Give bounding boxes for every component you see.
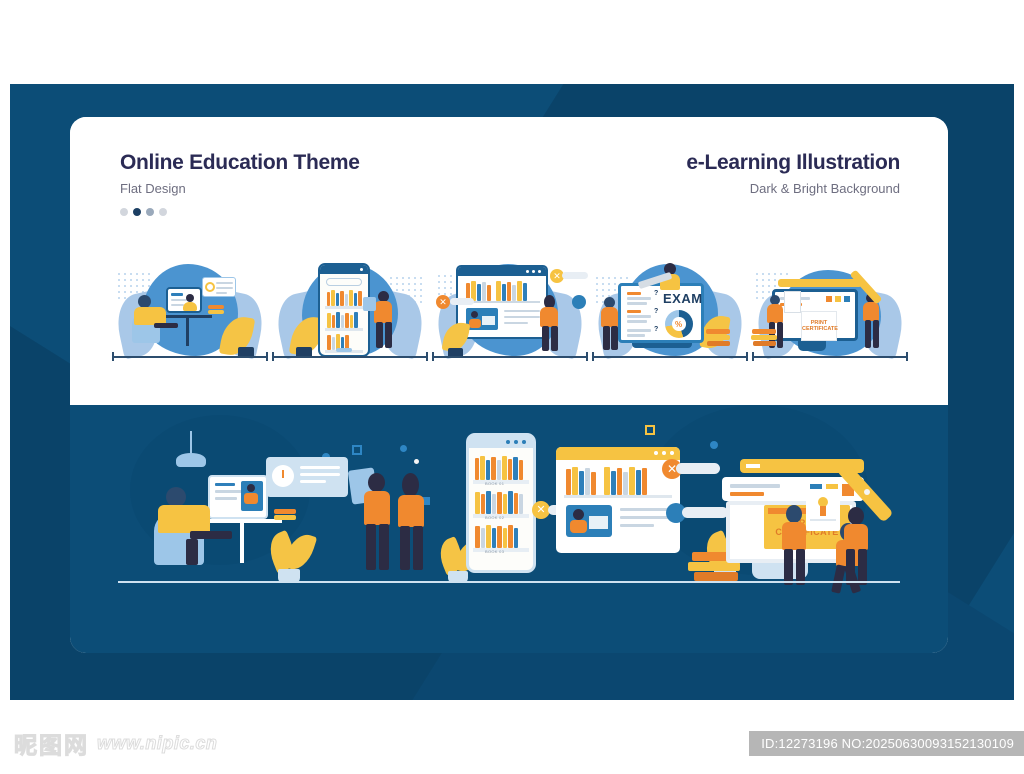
certificate-label: PRINT CERTIFICATE bbox=[802, 321, 836, 333]
laptop-base bbox=[632, 343, 692, 348]
person-right-leg-1 bbox=[865, 320, 871, 348]
award-person-a-leg-1 bbox=[784, 549, 793, 585]
shelf-label-2: BOOK 02 bbox=[485, 515, 504, 520]
book-stack-3 bbox=[707, 341, 730, 346]
thumbnail-online-learning-desk[interactable] bbox=[110, 249, 270, 369]
desk-leg bbox=[186, 318, 189, 346]
lamp-cord bbox=[190, 431, 192, 453]
award-sheet bbox=[806, 489, 840, 531]
watermark-url: www.nipic.cn bbox=[97, 733, 217, 754]
book-stack bbox=[208, 305, 224, 309]
dot-3[interactable] bbox=[146, 208, 154, 216]
printer-top-bar bbox=[778, 279, 862, 287]
pill-decor-left bbox=[450, 298, 474, 305]
page-subtitle: Flat Design bbox=[120, 181, 360, 197]
person-leg-1 bbox=[376, 322, 383, 348]
award-person-b-head bbox=[848, 507, 864, 525]
laptop-screen: ? ? ? EXAM % bbox=[618, 283, 704, 343]
book-stack-2 bbox=[274, 515, 296, 520]
watermark-id: ID:12273196 NO:20250630093152130109 bbox=[749, 731, 1024, 756]
person-a-head bbox=[368, 473, 385, 492]
person-left-body bbox=[767, 304, 783, 323]
award-person-a-body bbox=[782, 522, 806, 550]
person-body bbox=[540, 307, 558, 327]
award-person-b-leg-2 bbox=[858, 549, 867, 585]
thumbnail-online-exam[interactable]: ? ? ? EXAM % bbox=[590, 249, 750, 369]
person-legs bbox=[154, 323, 178, 328]
award-person-a-leg-2 bbox=[796, 549, 805, 585]
smartphone-frame: BOOK 01 BOOK 02 bbox=[466, 433, 536, 573]
book-stack-1 bbox=[706, 329, 730, 334]
ground-line bbox=[432, 356, 588, 358]
square-decor-3 bbox=[645, 425, 655, 435]
card-top-section: Online Education Theme Flat Design e-Lea… bbox=[70, 117, 948, 405]
headings-row: Online Education Theme Flat Design e-Lea… bbox=[120, 151, 900, 216]
printer-stand bbox=[798, 341, 826, 351]
award-sheet bbox=[784, 291, 801, 313]
poster-card: Online Education Theme Flat Design e-Lea… bbox=[70, 117, 948, 653]
poster-canvas: Online Education Theme Flat Design e-Lea… bbox=[0, 0, 1024, 774]
watermark-brand: 昵图网 www.nipic.cn bbox=[14, 726, 217, 760]
raised-hand bbox=[864, 489, 870, 495]
right-heading-group: e-Learning Illustration Dark & Bright Ba… bbox=[686, 151, 900, 197]
slide-indicator-dots[interactable] bbox=[120, 208, 360, 216]
award-person-a-head bbox=[786, 505, 802, 523]
person-b-head bbox=[402, 473, 419, 497]
chat-bubble bbox=[202, 277, 236, 297]
ground-line bbox=[272, 356, 428, 358]
raised-hand bbox=[414, 459, 419, 464]
person-leg-2 bbox=[611, 326, 618, 350]
book-stack-1 bbox=[752, 329, 776, 334]
monitor-screen bbox=[166, 287, 202, 313]
person-leg-2 bbox=[385, 322, 392, 348]
person-right-body bbox=[863, 302, 879, 321]
person-left-leg-2 bbox=[777, 322, 783, 348]
person-right-leg-2 bbox=[873, 320, 879, 348]
secondary-subtitle: Dark & Bright Background bbox=[686, 181, 900, 197]
monitor-screen bbox=[208, 475, 268, 519]
student-body bbox=[158, 505, 210, 533]
person-leg-2 bbox=[551, 326, 558, 351]
person-a-body bbox=[364, 491, 390, 525]
dot-4[interactable] bbox=[159, 208, 167, 216]
desk-leg bbox=[240, 523, 244, 563]
award-person-b-body bbox=[844, 524, 868, 550]
person-body bbox=[601, 307, 618, 327]
left-heading-group: Online Education Theme Flat Design bbox=[120, 151, 360, 216]
search-field[interactable] bbox=[326, 278, 362, 286]
person-body bbox=[374, 301, 392, 323]
book-stack-2 bbox=[208, 310, 224, 314]
person-a-leg-1 bbox=[366, 524, 376, 570]
hero-scene-two-people[interactable] bbox=[334, 453, 434, 581]
shelf-label-3: BOOK 03 bbox=[485, 549, 504, 554]
book-stack-1 bbox=[274, 509, 296, 514]
hero-plant-1 bbox=[268, 527, 312, 583]
person-b-leg-1 bbox=[400, 526, 410, 570]
circle-decor bbox=[572, 295, 586, 309]
video-lesson-thumbnail[interactable] bbox=[466, 308, 498, 330]
exam-label: EXAM bbox=[663, 291, 703, 306]
page-title: Online Education Theme bbox=[120, 151, 360, 175]
thumbnail-print-certificate[interactable]: PRINT CERTIFICATE bbox=[750, 249, 910, 369]
video-lesson-thumbnail[interactable] bbox=[566, 505, 612, 537]
thumbnail-online-course-browser[interactable]: ✕ ✕ bbox=[430, 249, 590, 369]
ground-line bbox=[592, 356, 748, 358]
book-stack-2 bbox=[751, 335, 777, 340]
close-icon-left[interactable]: ✕ bbox=[436, 295, 450, 309]
person-b-body bbox=[398, 495, 424, 527]
person-leg-1 bbox=[542, 326, 549, 351]
smartphone-frame bbox=[318, 263, 370, 357]
thumbnail-mobile-library[interactable] bbox=[270, 249, 430, 369]
person-a-leg-2 bbox=[379, 524, 389, 570]
book-stack-2 bbox=[704, 335, 730, 340]
book-stack-3 bbox=[753, 341, 776, 346]
thumbnail-strip: ✕ ✕ bbox=[110, 249, 910, 369]
student-legs bbox=[190, 531, 232, 539]
shelf-label-1: BOOK 01 bbox=[485, 481, 504, 486]
desk-top bbox=[158, 315, 212, 318]
ground-line bbox=[752, 356, 908, 358]
lamp-shade bbox=[176, 453, 206, 467]
dot-1[interactable] bbox=[120, 208, 128, 216]
pill-decor-right bbox=[562, 272, 588, 279]
dark-hero-banner: BOOK 01 BOOK 02 bbox=[70, 405, 948, 653]
percent-symbol: % bbox=[675, 320, 682, 329]
held-book bbox=[363, 297, 376, 311]
student-head bbox=[166, 487, 186, 507]
ground-line bbox=[112, 356, 268, 358]
hero-scene-award-people[interactable] bbox=[782, 487, 892, 587]
certificate-sheet: PRINT CERTIFICATE bbox=[801, 311, 837, 341]
person-b-leg-2 bbox=[413, 526, 423, 570]
hero-ground-line bbox=[118, 581, 900, 583]
award-person-b-leg-1 bbox=[846, 549, 855, 585]
secondary-title: e-Learning Illustration bbox=[686, 151, 900, 175]
hero-scene-mobile-library[interactable]: BOOK 01 BOOK 02 bbox=[466, 433, 536, 573]
dot-2-active[interactable] bbox=[133, 208, 141, 216]
watermark-brand-cn: 昵图网 bbox=[14, 726, 89, 760]
person-leg-1 bbox=[603, 326, 610, 350]
student-leg-down bbox=[186, 539, 198, 565]
